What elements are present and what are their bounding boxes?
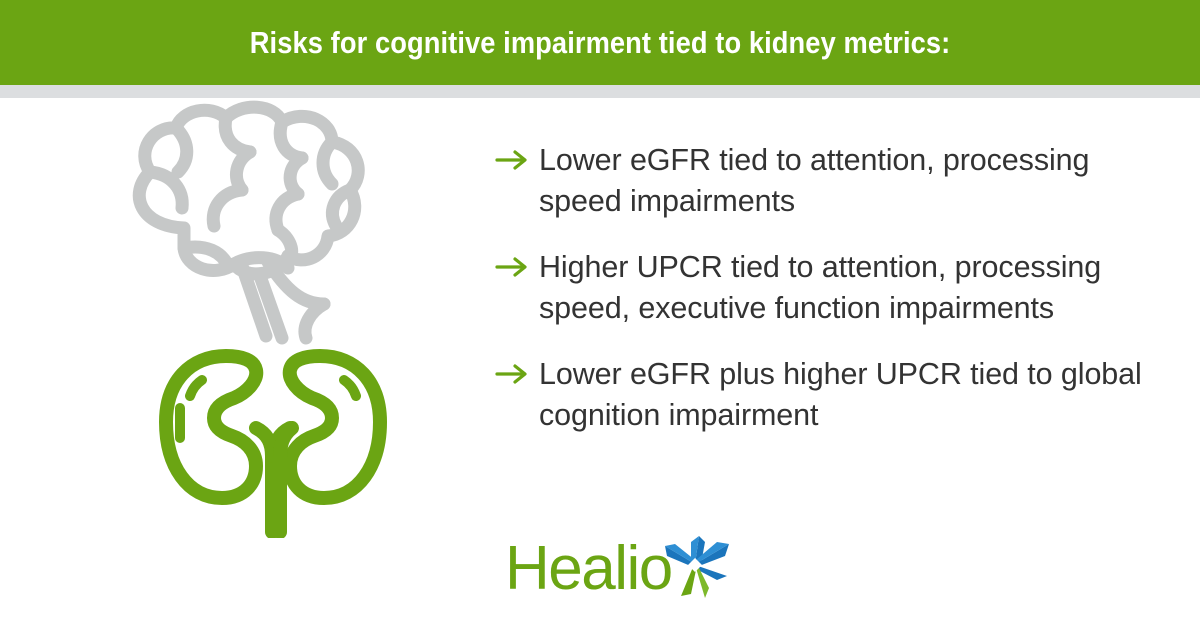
list-item: Lower eGFR tied to attention, processing… xyxy=(495,140,1145,221)
healio-star-icon xyxy=(655,530,733,600)
list-item: Higher UPCR tied to attention, processin… xyxy=(495,247,1145,328)
list-item-text: Lower eGFR plus higher UPCR tied to glob… xyxy=(539,354,1145,435)
medical-illustration xyxy=(110,98,410,538)
brain-stem-icon xyxy=(242,262,324,338)
arrow-right-icon xyxy=(495,140,539,171)
healio-wordmark: Healio xyxy=(505,538,672,600)
list-item-text: Higher UPCR tied to attention, processin… xyxy=(539,247,1145,328)
body-area: Lower eGFR tied to attention, processing… xyxy=(0,98,1200,630)
header-bar: Risks for cognitive impairment tied to k… xyxy=(0,0,1200,85)
infographic-canvas: Risks for cognitive impairment tied to k… xyxy=(0,0,1200,630)
page-title: Risks for cognitive impairment tied to k… xyxy=(250,27,951,58)
brain-icon xyxy=(139,107,358,274)
header-divider xyxy=(0,85,1200,98)
arrow-right-icon xyxy=(495,247,539,278)
kidneys-icon xyxy=(166,356,380,532)
findings-list: Lower eGFR tied to attention, processing… xyxy=(495,140,1145,435)
healio-logo: Healio xyxy=(505,530,745,610)
list-item: Lower eGFR plus higher UPCR tied to glob… xyxy=(495,354,1145,435)
list-item-text: Lower eGFR tied to attention, processing… xyxy=(539,140,1145,221)
arrow-right-icon xyxy=(495,354,539,385)
